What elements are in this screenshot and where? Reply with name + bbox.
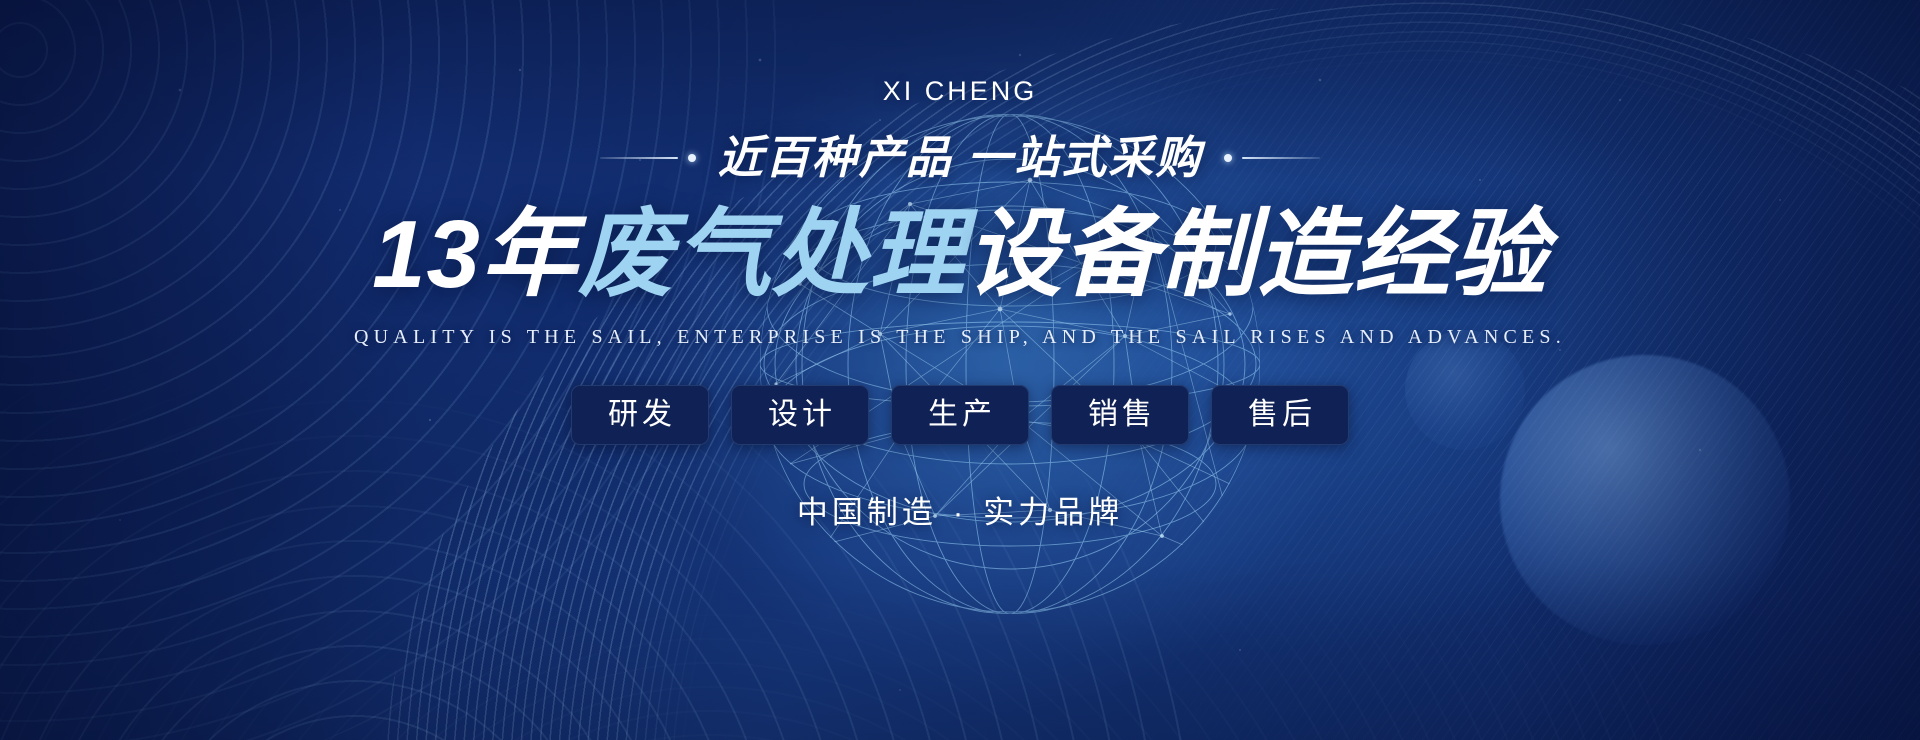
service-badge[interactable]: 销售: [1051, 385, 1189, 446]
divider-right: [1224, 154, 1320, 162]
banner-content: XI CHENG 近百种产品 一站式采购 13年废气处理设备制造经验 QUALI…: [0, 0, 1920, 740]
divider-line-left-icon: [600, 157, 678, 159]
banner-headline: 13年废气处理设备制造经验: [372, 202, 1548, 308]
banner-subtitle: 近百种产品 一站式采购: [718, 135, 1203, 180]
headline-prefix: 13年: [372, 201, 578, 308]
bottom-tagline-right: 实力品牌: [983, 495, 1123, 530]
brand-name-en: XI CHENG: [883, 78, 1038, 105]
service-badge[interactable]: 售后: [1211, 385, 1349, 446]
english-tagline: QUALITY IS THE SAIL, ENTERPRISE IS THE S…: [354, 326, 1566, 349]
hero-banner: XI CHENG 近百种产品 一站式采购 13年废气处理设备制造经验 QUALI…: [0, 0, 1920, 740]
service-badge[interactable]: 研发: [571, 385, 709, 446]
service-badge[interactable]: 生产: [891, 385, 1029, 446]
bottom-tagline-separator: ·: [937, 495, 983, 530]
subtitle-row: 近百种产品 一站式采购: [600, 135, 1321, 180]
headline-suffix: 设备制造经验: [966, 201, 1548, 308]
divider-left: [600, 154, 696, 162]
bottom-tagline-left: 中国制造: [797, 495, 937, 530]
headline-highlight: 废气处理: [578, 201, 966, 308]
divider-dot-left-icon: [688, 154, 696, 162]
divider-line-right-icon: [1242, 157, 1320, 159]
bottom-tagline: 中国制造·实力品牌: [797, 487, 1123, 532]
divider-dot-right-icon: [1224, 154, 1232, 162]
service-badge[interactable]: 设计: [731, 385, 869, 446]
service-badge-list: 研发 设计 生产 销售 售后: [571, 385, 1349, 446]
